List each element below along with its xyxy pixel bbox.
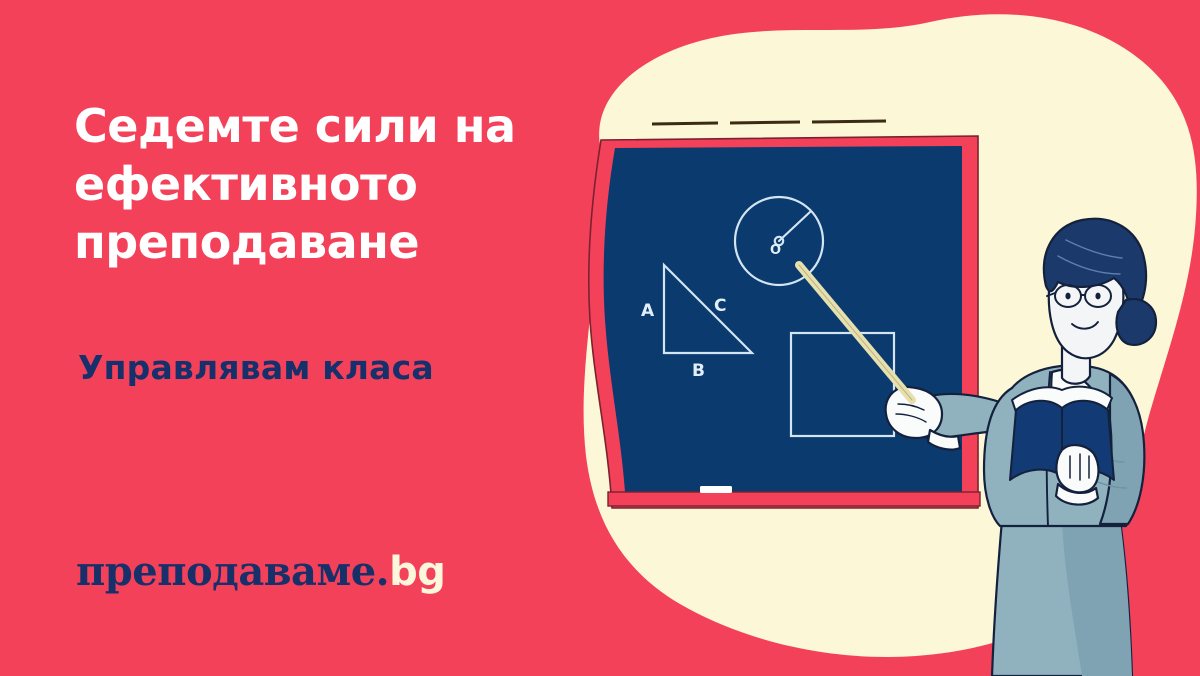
page-title: Седемте сили на ефективното преподаване bbox=[74, 98, 574, 272]
blackboard-ledge bbox=[608, 492, 980, 506]
brand-logo[interactable]: преподаваме.bg bbox=[76, 548, 445, 595]
subtitle: Управлявам класа bbox=[78, 348, 434, 387]
text-column: Седемте сили на ефективното преподаване bbox=[74, 98, 574, 272]
circle-center-label: O bbox=[770, 243, 781, 258]
brand-logo-tld: bg bbox=[389, 549, 445, 595]
teacher-holding-hand bbox=[1056, 445, 1098, 492]
chalk-piece bbox=[700, 486, 732, 493]
brand-logo-word: преподаваме. bbox=[76, 548, 389, 595]
teacher-hair-bun-knot bbox=[1116, 299, 1156, 345]
banner-root: A B C O bbox=[0, 0, 1200, 676]
triangle-label-b: B bbox=[692, 361, 705, 381]
triangle-label-a: A bbox=[641, 301, 655, 321]
triangle-label-c: C bbox=[714, 296, 726, 316]
pointing-hand bbox=[886, 387, 942, 438]
